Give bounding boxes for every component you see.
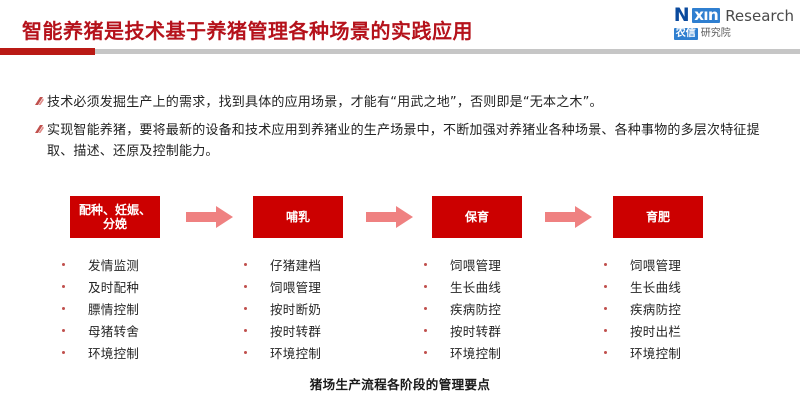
detail-column-3: 饲喂管理 生长曲线 疾病防控 按时转群 环境控制 [424,253,594,363]
dot-bullet-icon [424,282,450,291]
dot-bullet-icon [604,304,630,313]
list-item-text: 母猪转舍 [88,321,139,340]
list-item: 环境控制 [244,341,414,363]
logo-primary-row: N xın Research [674,6,794,25]
list-item: 实现智能养猪，要将最新的设备和技术应用到养猪业的生产场景中，不断加强对养猪业各种… [34,120,774,162]
dot-bullet-icon [62,304,88,313]
title-divider-gray [0,49,800,54]
list-item-text: 仔猪建档 [270,255,321,274]
dot-bullet-icon [424,260,450,269]
list-item-text: 疾病防控 [630,299,681,318]
dot-bullet-icon [244,348,270,357]
logo-letter-n: N [674,6,689,25]
dot-bullet-icon [62,260,88,269]
detail-column-2: 仔猪建档 饲喂管理 按时断奶 按时转群 环境控制 [244,253,414,363]
list-item-text: 饲喂管理 [450,255,501,274]
dot-bullet-icon [604,326,630,335]
list-item-text: 发情监测 [88,255,139,274]
list-item: 按时转群 [244,319,414,341]
dot-bullet-icon [604,282,630,291]
list-item-text: 按时转群 [450,321,501,340]
dot-bullet-icon [424,326,450,335]
list-item-text: 环境控制 [270,343,321,362]
list-item: 生长曲线 [604,275,774,297]
list-item-text: 环境控制 [630,343,681,362]
logo-cn-research: 研究院 [701,29,731,39]
flow-stage-label: 保育 [432,196,522,238]
dot-bullet-icon [62,326,88,335]
detail-column-1: 发情监测 及时配种 膘情控制 母猪转舍 环境控制 [62,253,232,363]
logo-xin-badge: xın [692,8,720,23]
list-item: 按时出栏 [604,319,774,341]
list-item: 环境控制 [604,341,774,363]
flow-stage-label: 哺乳 [253,196,343,238]
dot-bullet-icon [244,326,270,335]
flow-stage-1: 配种、妊娠、 分娩 [70,196,160,238]
diagonal-bullet-icon [34,120,47,135]
list-item-text: 及时配种 [88,277,139,296]
figure-caption: 猪场生产流程各阶段的管理要点 [0,374,800,393]
logo-research-text: Research [725,9,794,24]
flow-arrow-icon [545,206,593,228]
logo-secondary-row: 农信 研究院 [674,28,794,40]
list-item: 饲喂管理 [424,253,594,275]
page-title: 智能养猪是技术基于养猪管理各种场景的实践应用 [22,15,473,44]
flow-arrow-icon [366,206,414,228]
list-item: 仔猪建档 [244,253,414,275]
list-item: 母猪转舍 [62,319,232,341]
process-flow: 配种、妊娠、 分娩 哺乳 保育 育肥 [0,196,800,238]
list-item-text: 环境控制 [88,343,139,362]
flow-stage-2: 哺乳 [253,196,343,238]
title-divider-red [0,48,95,55]
list-item: 生长曲线 [424,275,594,297]
dot-bullet-icon [604,260,630,269]
list-item: 发情监测 [62,253,232,275]
brand-logo: N xın Research 农信 研究院 [674,6,794,40]
list-item: 膘情控制 [62,297,232,319]
list-item-text: 技术必须发掘生产上的需求，找到具体的应用场景，才能有“用武之地”，否则即是“无本… [47,92,774,113]
list-item: 按时断奶 [244,297,414,319]
dot-bullet-icon [604,348,630,357]
flow-stage-label: 配种、妊娠、 分娩 [70,196,160,238]
dot-bullet-icon [62,348,88,357]
list-item-text: 按时断奶 [270,299,321,318]
list-item: 疾病防控 [604,297,774,319]
dot-bullet-icon [244,260,270,269]
key-points-list: 技术必须发掘生产上的需求，找到具体的应用场景，才能有“用武之地”，否则即是“无本… [34,92,774,169]
list-item-text: 饲喂管理 [270,277,321,296]
dot-bullet-icon [62,282,88,291]
dot-bullet-icon [244,282,270,291]
list-item-text: 饲喂管理 [630,255,681,274]
list-item-text: 按时转群 [270,321,321,340]
flow-stage-3: 保育 [432,196,522,238]
flow-stage-4: 育肥 [613,196,703,238]
list-item-text: 实现智能养猪，要将最新的设备和技术应用到养猪业的生产场景中，不断加强对养猪业各种… [47,120,774,162]
list-item-text: 生长曲线 [630,277,681,296]
dot-bullet-icon [424,348,450,357]
logo-cn-brand: 农信 [674,28,698,40]
diagonal-bullet-icon [34,92,47,107]
list-item: 技术必须发掘生产上的需求，找到具体的应用场景，才能有“用武之地”，否则即是“无本… [34,92,774,113]
list-item-text: 膘情控制 [88,299,139,318]
list-item: 按时转群 [424,319,594,341]
list-item: 饲喂管理 [604,253,774,275]
list-item: 环境控制 [424,341,594,363]
dot-bullet-icon [424,304,450,313]
detail-column-4: 饲喂管理 生长曲线 疾病防控 按时出栏 环境控制 [604,253,774,363]
dot-bullet-icon [244,304,270,313]
flow-arrow-icon [186,206,234,228]
flow-stage-label: 育肥 [613,196,703,238]
list-item-text: 生长曲线 [450,277,501,296]
list-item-text: 环境控制 [450,343,501,362]
slide-header: 智能养猪是技术基于养猪管理各种场景的实践应用 N xın Research 农信… [0,0,800,56]
list-item: 及时配种 [62,275,232,297]
list-item-text: 疾病防控 [450,299,501,318]
list-item: 疾病防控 [424,297,594,319]
list-item: 环境控制 [62,341,232,363]
list-item: 饲喂管理 [244,275,414,297]
list-item-text: 按时出栏 [630,321,681,340]
